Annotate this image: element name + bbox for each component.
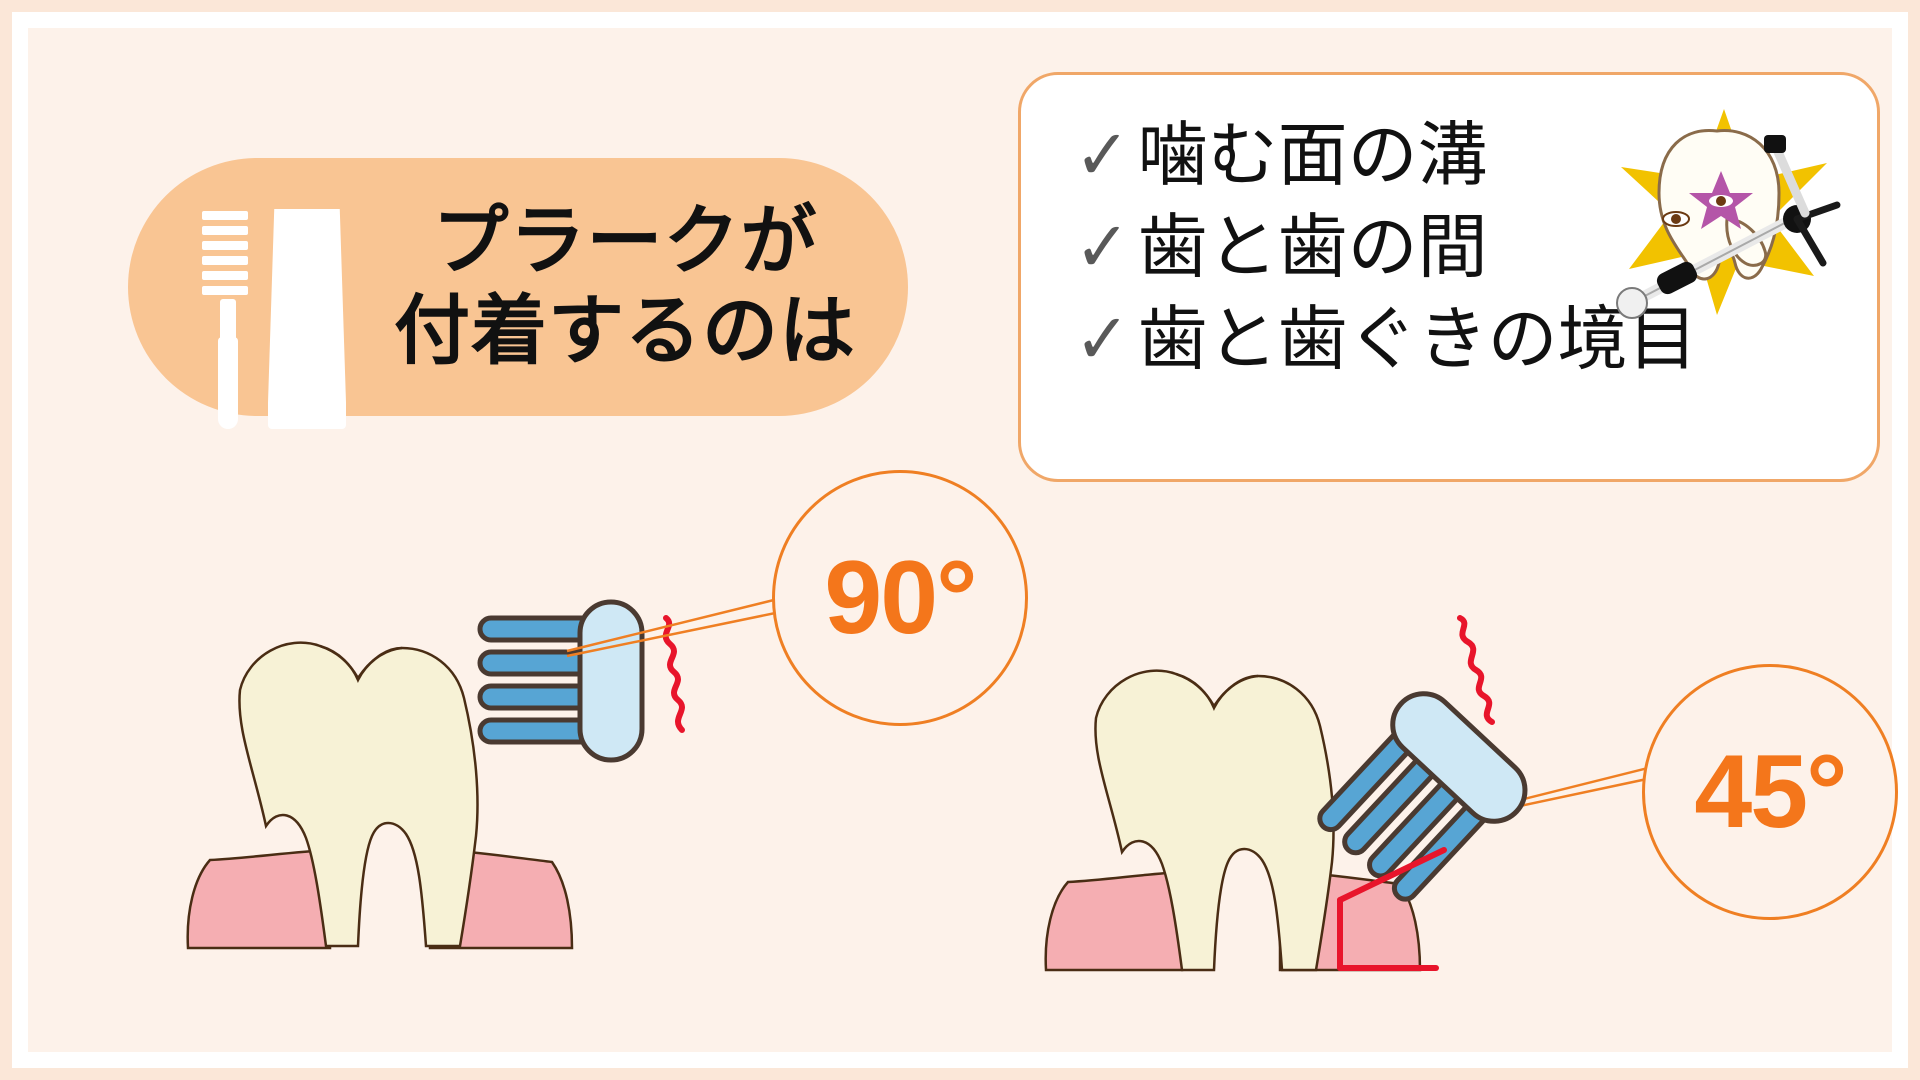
checklist-item-label: 歯と歯の間 <box>1138 212 1488 282</box>
mirror-head <box>1617 288 1647 318</box>
toothbrush-bristle <box>202 271 248 280</box>
diagram-45-degree <box>1040 600 1680 1000</box>
headline-line-1: プラークが <box>368 197 882 287</box>
motion-lines <box>1460 618 1492 722</box>
check-icon: ✓ <box>1074 212 1130 282</box>
toothbrush-bristle <box>202 286 248 295</box>
check-icon: ✓ <box>1074 120 1130 190</box>
toothbrush-icon <box>202 211 248 220</box>
toothpaste-tube-icon <box>268 209 346 429</box>
toothbrush-handle <box>218 337 238 429</box>
toothbrush-bristle <box>202 256 248 265</box>
mascot-pupil <box>1671 214 1681 224</box>
headline-text: プラークが 付着するのは <box>368 197 908 376</box>
mascot-pupil <box>1716 196 1726 206</box>
tooth-mascot-icon <box>1599 101 1849 321</box>
headline-pill: プラークが 付着するのは <box>128 158 908 416</box>
gum-left <box>1046 872 1182 970</box>
toothbrush-bristle <box>202 226 248 235</box>
angle-badge-90: 90° <box>772 470 1028 726</box>
angle-badge-45: 45° <box>1642 664 1898 920</box>
hygiene-icons <box>158 187 368 387</box>
poster-canvas: プラークが 付着するのは ✓ 噛む面の溝 ✓ 歯と歯の間 ✓ 歯と歯ぐきの境目 <box>0 0 1920 1080</box>
angle-label-45: 45° <box>1694 740 1845 844</box>
check-icon: ✓ <box>1074 304 1130 374</box>
headline-line-2: 付着するのは <box>368 287 882 377</box>
toothbrush-head <box>580 602 642 760</box>
checklist-item-label: 噛む面の溝 <box>1138 120 1488 190</box>
angle-label-90: 90° <box>824 546 975 650</box>
checklist-card: ✓ 噛む面の溝 ✓ 歯と歯の間 ✓ 歯と歯ぐきの境目 <box>1018 72 1880 482</box>
gum-left <box>188 850 330 948</box>
motion-lines <box>666 618 682 730</box>
diagram-90-degree <box>180 560 800 980</box>
instrument-tip <box>1764 135 1786 153</box>
toothbrush-bristle <box>202 241 248 250</box>
